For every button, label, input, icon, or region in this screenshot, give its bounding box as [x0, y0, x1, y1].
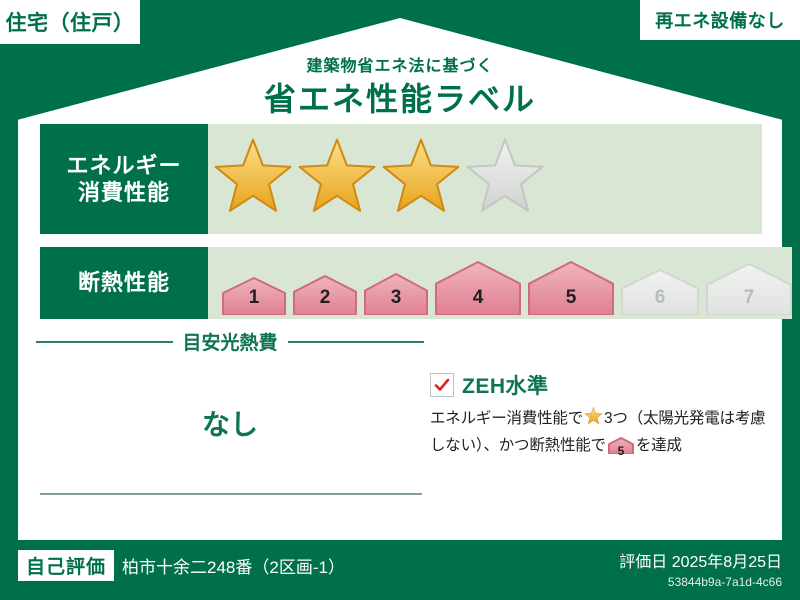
- zeh-description: エネルギー消費性能で3つ（太陽光発電は考慮しない）、かつ断熱性能で5を達成: [430, 407, 766, 462]
- inline-star-icon: [584, 413, 603, 430]
- energy-performance-row: エネルギー 消費性能: [40, 124, 762, 234]
- house-level-2: 2: [293, 275, 357, 315]
- star-empty-icon: [464, 138, 546, 220]
- inline-house-number: 5: [608, 442, 634, 461]
- document-id: 53844b9a-7a1d-4c66: [619, 575, 782, 589]
- house-level-number: 1: [222, 287, 286, 309]
- inline-house-badge: 5: [608, 437, 634, 462]
- label-footer: 自己評価 柏市十余二248番（2区画-1） 評価日 2025年8月25日 538…: [0, 542, 800, 600]
- star-rating: [208, 138, 546, 220]
- zeh-standard-block: ZEH水準 エネルギー消費性能で3つ（太陽光発電は考慮しない）、かつ断熱性能で5…: [430, 370, 766, 462]
- rule-right: [288, 341, 425, 343]
- insulation-rating-panel: 1234567: [208, 247, 792, 319]
- house-level-5: 5: [528, 261, 614, 315]
- zeh-header: ZEH水準: [430, 370, 766, 400]
- energy-performance-label: エネルギー 消費性能: [40, 124, 208, 234]
- house-level-number: 6: [621, 287, 699, 309]
- house-level-number: 3: [364, 287, 428, 309]
- label-subtitle: 建築物省エネ法に基づく: [0, 52, 800, 76]
- footer-right: 評価日 2025年8月25日 53844b9a-7a1d-4c66: [619, 548, 782, 589]
- property-address: 柏市十余二248番（2区画-1）: [122, 553, 345, 578]
- checkmark-icon: [430, 373, 454, 397]
- utility-cost-header: 目安光熱費: [36, 328, 424, 355]
- house-level-number: 7: [706, 287, 792, 309]
- house-level-7: 7: [706, 263, 792, 315]
- insulation-label-text: 断熱性能: [78, 269, 170, 297]
- building-type-badge: 住宅（住戸）: [0, 0, 140, 44]
- label-title: 省エネ性能ラベル: [0, 74, 800, 120]
- renewable-equipment-badge: 再エネ設備なし: [640, 0, 800, 40]
- energy-label-line2: 消費性能: [78, 179, 170, 207]
- house-level-1: 1: [222, 277, 286, 315]
- insulation-performance-label: 断熱性能: [40, 247, 208, 319]
- zeh-desc-part3: を達成: [636, 437, 682, 454]
- zeh-desc-star-count: 3つ（太陽光発電: [604, 410, 720, 427]
- self-evaluation-badge: 自己評価: [18, 550, 114, 581]
- house-level-number: 5: [528, 287, 614, 309]
- star-filled-icon: [380, 138, 462, 220]
- house-level-number: 2: [293, 287, 357, 309]
- house-level-number: 4: [435, 287, 521, 309]
- house-level-4: 4: [435, 261, 521, 315]
- rule-left: [36, 341, 173, 343]
- utility-cost-bottom-rule: [40, 493, 422, 495]
- energy-rating-panel: [208, 124, 762, 234]
- utility-cost-section: 目安光熱費 なし: [36, 328, 424, 443]
- zeh-desc-part1: エネルギー消費性能で: [430, 410, 583, 427]
- utility-cost-title: 目安光熱費: [183, 328, 278, 355]
- energy-label-line1: エネルギー: [66, 152, 181, 180]
- house-level-3: 3: [364, 273, 428, 315]
- house-level-scale: 1234567: [208, 243, 792, 324]
- evaluation-date: 評価日 2025年8月25日: [619, 548, 782, 572]
- zeh-title: ZEH水準: [462, 370, 549, 400]
- insulation-performance-row: 断熱性能 1234567: [40, 247, 762, 319]
- utility-cost-value: なし: [36, 403, 424, 443]
- footer-left: 自己評価 柏市十余二248番（2区画-1）: [18, 550, 345, 581]
- energy-performance-label: 住宅（住戸） 再エネ設備なし 建築物省エネ法に基づく 省エネ性能ラベル エネルギ…: [0, 0, 800, 600]
- star-filled-icon: [212, 138, 294, 220]
- house-level-6: 6: [621, 269, 699, 315]
- star-filled-icon: [296, 138, 378, 220]
